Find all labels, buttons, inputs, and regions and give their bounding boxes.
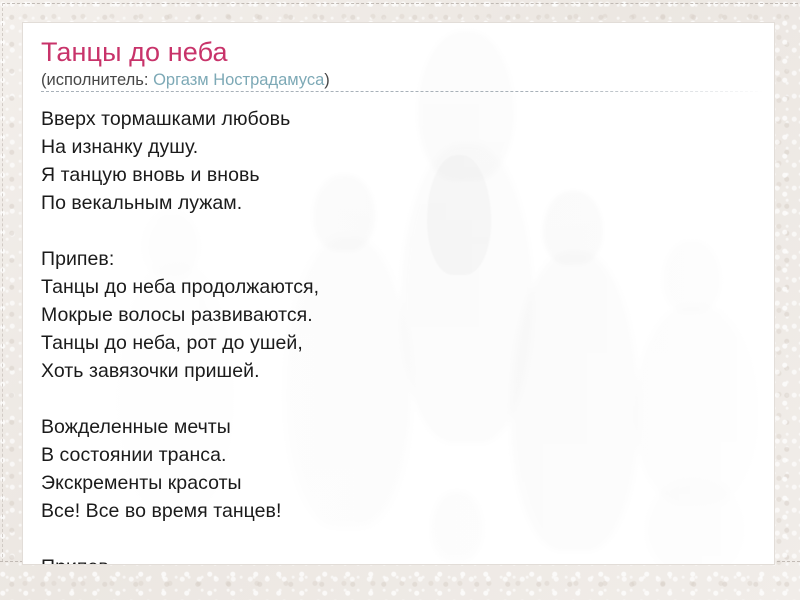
title-block: Танцы до неба (исполнитель: Оргазм Ностр… <box>41 37 762 91</box>
lyric-line: Хоть завязочки пришей. <box>41 357 762 385</box>
lyric-line: На изнанку душу. <box>41 133 762 161</box>
lyric-stanza-4: Припев. <box>41 553 762 565</box>
slide-frame: Танцы до неба (исполнитель: Оргазм Ностр… <box>0 0 800 600</box>
lyric-stanza-1: Вверх тормашками любовь На изнанку душу.… <box>41 105 762 217</box>
stanza-spacer <box>41 525 762 553</box>
artist-subtitle-suffix: ) <box>324 71 330 89</box>
artist-subtitle: (исполнитель: Оргазм Нострадамуса) <box>41 71 762 91</box>
lyric-line: По векальным лужам. <box>41 189 762 217</box>
lyrics-body: Вверх тормашками любовь На изнанку душу.… <box>41 105 762 565</box>
lyric-line: Танцы до неба, рот до ушей, <box>41 329 762 357</box>
artist-subtitle-prefix: (исполнитель: <box>41 71 153 89</box>
lyric-line: Танцы до неба продолжаются, <box>41 273 762 301</box>
chorus-repeat-label: Припев. <box>41 553 762 565</box>
lyric-stanza-2: Припев: Танцы до неба продолжаются, Мокр… <box>41 245 762 385</box>
lyric-line: Вожделенные мечты <box>41 413 762 441</box>
title-divider <box>41 91 763 92</box>
stanza-spacer <box>41 385 762 413</box>
artist-link[interactable]: Оргазм Нострадамуса <box>153 71 324 89</box>
lyric-line: Я танцую вновь и вновь <box>41 161 762 189</box>
chorus-label: Припев: <box>41 245 762 273</box>
stanza-spacer <box>41 217 762 245</box>
page-title: Танцы до неба <box>41 37 762 67</box>
lyric-line: В состоянии транса. <box>41 441 762 469</box>
lyric-line: Все! Все во время танцев! <box>41 497 762 525</box>
slide-canvas: Танцы до неба (исполнитель: Оргазм Ностр… <box>22 22 775 565</box>
lyric-line: Мокрые волосы развиваются. <box>41 301 762 329</box>
lyric-line: Вверх тормашками любовь <box>41 105 762 133</box>
lyric-line: Экскременты красоты <box>41 469 762 497</box>
lyric-stanza-3: Вожделенные мечты В состоянии транса. Эк… <box>41 413 762 525</box>
